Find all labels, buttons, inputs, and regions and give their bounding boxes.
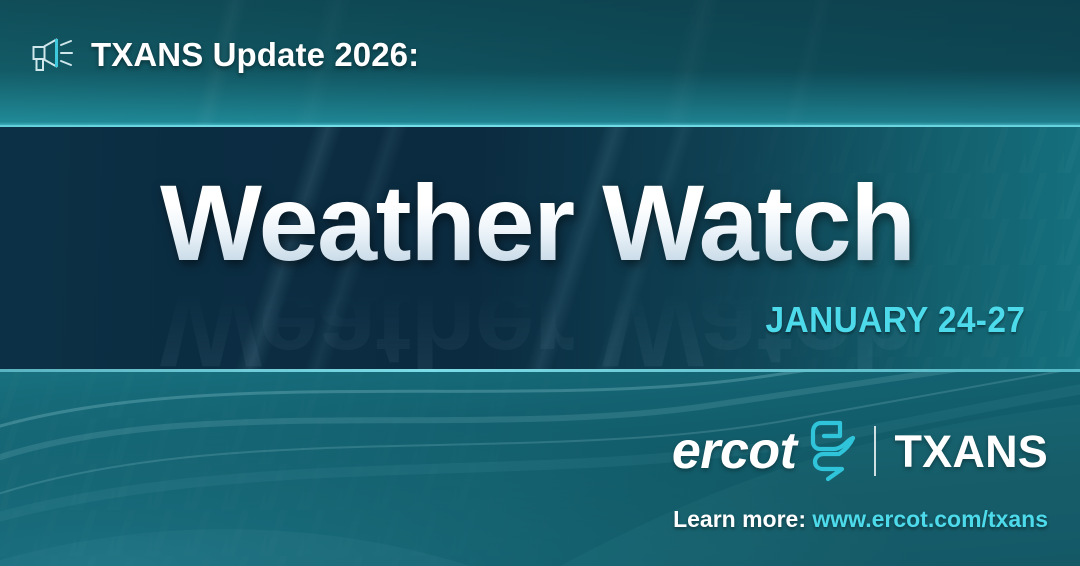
learn-more-line: Learn more: www.ercot.com/txans	[673, 508, 1048, 531]
ercot-wordmark: ercot	[672, 425, 797, 477]
ercot-bolt-icon	[810, 420, 856, 482]
header-title: TXANS Update 2026:	[91, 38, 419, 71]
ercot-txans-logo-lockup: ercot TXANS	[672, 420, 1048, 482]
logo-divider	[874, 426, 876, 476]
hero-date-range: JANUARY 24-27	[765, 299, 1025, 341]
learn-more-label: Learn more:	[673, 506, 806, 532]
hero-title: Weather Watch	[160, 169, 915, 277]
megaphone-icon	[30, 34, 75, 74]
learn-more-url[interactable]: www.ercot.com/txans	[812, 506, 1048, 532]
txans-wordmark: TXANS	[894, 429, 1048, 474]
header-row: TXANS Update 2026:	[30, 34, 419, 74]
hero-content: Weather Watch Weather Watch JANUARY 24-2…	[0, 127, 1080, 372]
hero-band: Weather Watch Weather Watch JANUARY 24-2…	[0, 127, 1080, 372]
txans-weather-watch-poster: TXANS Update 2026: Weather Watch Weather…	[0, 0, 1080, 566]
